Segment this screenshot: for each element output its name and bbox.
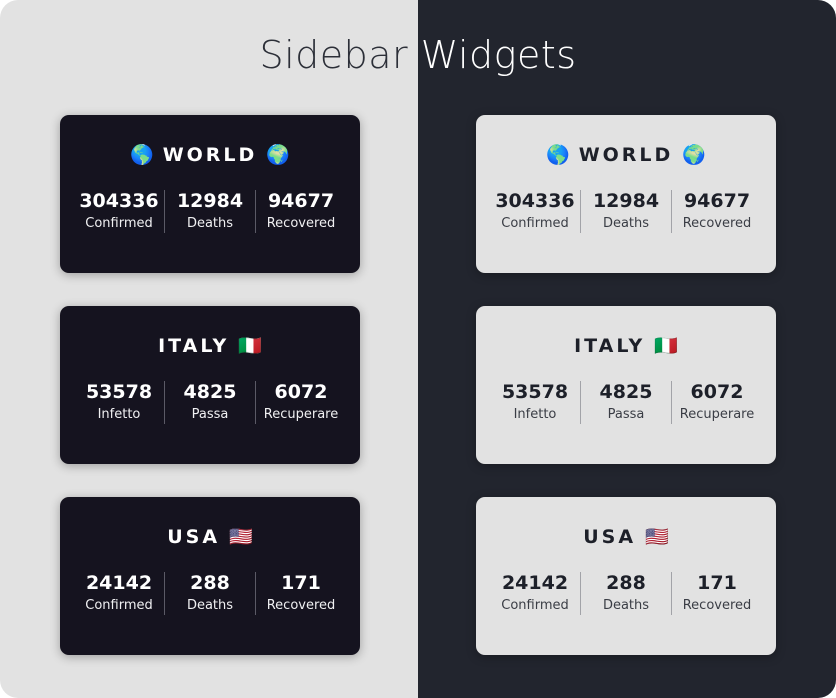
widget-card-world-light[interactable]: 🌎WORLD🌍 304336 Confirmed 12984 Deaths 94… (476, 115, 776, 273)
stat-value: 94677 (676, 190, 758, 214)
stats-row: 24142 Confirmed 288 Deaths 171 Recovered (60, 572, 360, 615)
card-title-world-light: 🌎WORLD🌍 (476, 143, 776, 166)
stat-deaths: 12984 Deaths (164, 190, 255, 233)
widget-card-usa-light[interactable]: USA🇺🇸 24142 Confirmed 288 Deaths 171 Rec… (476, 497, 776, 655)
widget-card-italy-dark[interactable]: ITALY🇮🇹 53578 Infetto 4825 Passa 6072 Re… (60, 306, 360, 464)
stat-label: Passa (169, 405, 251, 425)
globe-europe-africa-icon: 🌍 (682, 144, 706, 166)
stat-confirmed: 304336 Confirmed (490, 190, 580, 233)
card-title-text: ITALY (574, 335, 645, 357)
stat-value: 288 (169, 572, 251, 596)
widget-card-world-dark[interactable]: 🌎WORLD🌍 304336 Confirmed 12984 Deaths 94… (60, 115, 360, 273)
stats-row: 53578 Infetto 4825 Passa 6072 Recuperare (476, 381, 776, 424)
stat-label: Confirmed (494, 596, 576, 616)
stat-value: 6072 (676, 381, 758, 405)
stat-label: Confirmed (78, 596, 160, 616)
stat-recuperare: 6072 Recuperare (671, 381, 762, 424)
stat-value: 53578 (78, 381, 160, 405)
stat-label: Confirmed (78, 214, 160, 234)
stat-label: Recovered (260, 214, 342, 234)
card-title-italy-light: ITALY🇮🇹 (476, 334, 776, 357)
stat-infetto: 53578 Infetto (490, 381, 580, 424)
widget-card-usa-dark[interactable]: USA🇺🇸 24142 Confirmed 288 Deaths 171 Rec… (60, 497, 360, 655)
stat-value: 53578 (494, 381, 576, 405)
card-title-usa-dark: USA🇺🇸 (60, 525, 360, 548)
stat-label: Deaths (585, 596, 667, 616)
stat-value: 94677 (260, 190, 342, 214)
stat-label: Deaths (169, 214, 251, 234)
stat-label: Recovered (676, 214, 758, 234)
card-title-text: ITALY (158, 335, 229, 357)
stat-confirmed: 24142 Confirmed (74, 572, 164, 615)
stat-value: 12984 (169, 190, 251, 214)
stat-recuperare: 6072 Recuperare (255, 381, 346, 424)
stats-row: 24142 Confirmed 288 Deaths 171 Recovered (476, 572, 776, 615)
stat-deaths: 12984 Deaths (580, 190, 671, 233)
page-root: Sidebar Widgets Sidebar Widgets 🌎WORLD🌍 … (0, 0, 836, 698)
stat-value: 288 (585, 572, 667, 596)
stat-recovered: 94677 Recovered (255, 190, 346, 233)
stat-recovered: 171 Recovered (255, 572, 346, 615)
widget-column-dark-cards: 🌎WORLD🌍 304336 Confirmed 12984 Deaths 94… (0, 0, 418, 698)
flag-italy-icon: 🇮🇹 (238, 335, 262, 357)
card-title-text: USA (167, 526, 220, 548)
flag-usa-icon: 🇺🇸 (229, 526, 253, 548)
stat-label: Recuperare (676, 405, 758, 425)
widget-column-light-cards: 🌎WORLD🌍 304336 Confirmed 12984 Deaths 94… (418, 0, 836, 698)
card-title-usa-light: USA🇺🇸 (476, 525, 776, 548)
card-title-italy-dark: ITALY🇮🇹 (60, 334, 360, 357)
stat-passa: 4825 Passa (580, 381, 671, 424)
stat-confirmed: 304336 Confirmed (74, 190, 164, 233)
stat-deaths: 288 Deaths (164, 572, 255, 615)
card-title-text: WORLD (579, 144, 674, 166)
stat-confirmed: 24142 Confirmed (490, 572, 580, 615)
stats-row: 304336 Confirmed 12984 Deaths 94677 Reco… (60, 190, 360, 233)
stat-label: Recovered (260, 596, 342, 616)
globe-americas-icon: 🌎 (130, 144, 154, 166)
stat-label: Deaths (585, 214, 667, 234)
stat-label: Deaths (169, 596, 251, 616)
globe-americas-icon: 🌎 (546, 144, 570, 166)
stat-label: Infetto (494, 405, 576, 425)
card-title-world-dark: 🌎WORLD🌍 (60, 143, 360, 166)
card-title-text: USA (583, 526, 636, 548)
stats-row: 304336 Confirmed 12984 Deaths 94677 Reco… (476, 190, 776, 233)
stat-infetto: 53578 Infetto (74, 381, 164, 424)
stat-value: 171 (260, 572, 342, 596)
stat-value: 24142 (494, 572, 576, 596)
stat-deaths: 288 Deaths (580, 572, 671, 615)
stats-row: 53578 Infetto 4825 Passa 6072 Recuperare (60, 381, 360, 424)
stat-passa: 4825 Passa (164, 381, 255, 424)
stat-value: 304336 (78, 190, 160, 214)
stat-value: 304336 (494, 190, 576, 214)
stat-value: 24142 (78, 572, 160, 596)
stat-recovered: 94677 Recovered (671, 190, 762, 233)
flag-usa-icon: 🇺🇸 (645, 526, 669, 548)
stat-label: Passa (585, 405, 667, 425)
stat-value: 4825 (169, 381, 251, 405)
stat-value: 4825 (585, 381, 667, 405)
stat-label: Recuperare (260, 405, 342, 425)
stat-label: Recovered (676, 596, 758, 616)
stat-value: 6072 (260, 381, 342, 405)
flag-italy-icon: 🇮🇹 (654, 335, 678, 357)
globe-europe-africa-icon: 🌍 (266, 144, 290, 166)
stat-recovered: 171 Recovered (671, 572, 762, 615)
stat-value: 12984 (585, 190, 667, 214)
widget-card-italy-light[interactable]: ITALY🇮🇹 53578 Infetto 4825 Passa 6072 Re… (476, 306, 776, 464)
stat-label: Infetto (78, 405, 160, 425)
card-title-text: WORLD (163, 144, 258, 166)
stat-label: Confirmed (494, 214, 576, 234)
stat-value: 171 (676, 572, 758, 596)
